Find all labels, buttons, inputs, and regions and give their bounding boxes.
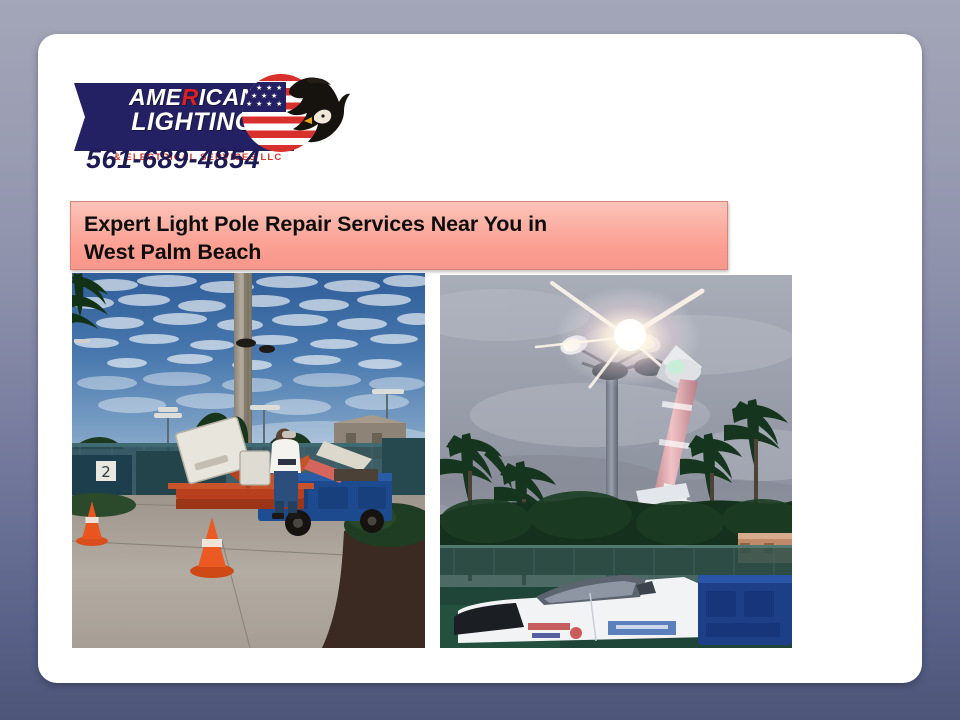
slide-card: AMERICAN LIGHTING & ELECTRICAL SERVICES …	[38, 34, 922, 683]
title-banner: Expert Light Pole Repair Services Near Y…	[70, 201, 728, 270]
phone-number: 561-689-4854	[86, 144, 260, 175]
logo-accent-letter: R	[182, 84, 199, 110]
bald-eagle-icon	[284, 72, 350, 148]
light-pole-repair-bucket-truck-photo: 2	[72, 273, 425, 648]
svg-text:2: 2	[101, 463, 111, 481]
slide-background: AMERICAN LIGHTING & ELECTRICAL SERVICES …	[0, 0, 960, 720]
page-title: Expert Light Pole Repair Services Near Y…	[84, 210, 727, 267]
light-pole-night-repair-photo	[440, 275, 792, 648]
